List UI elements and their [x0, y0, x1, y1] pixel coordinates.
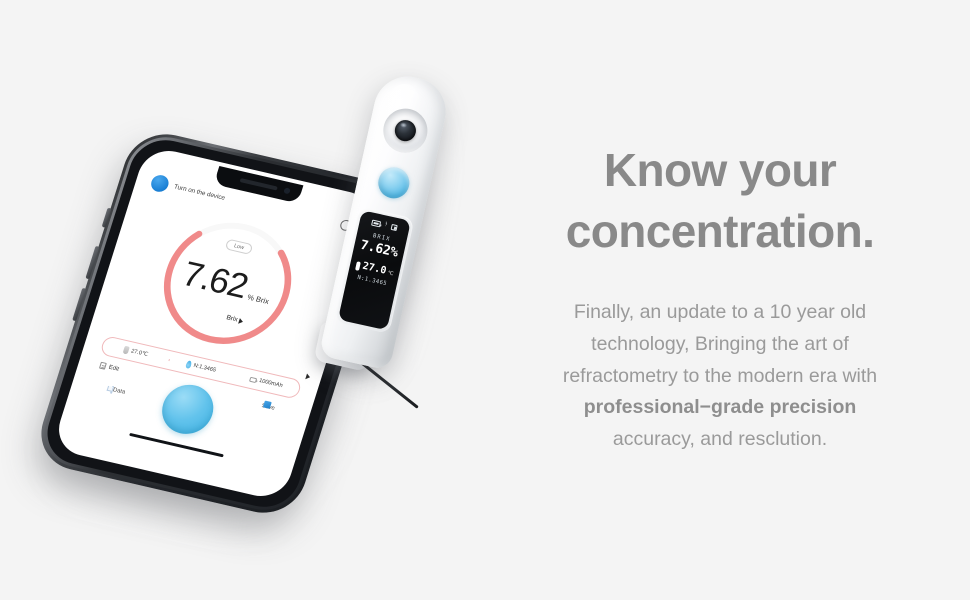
measure-button[interactable]	[156, 380, 220, 439]
earpiece-speaker	[240, 178, 278, 190]
front-camera-icon	[283, 187, 291, 194]
temperature-value: 27.0℃	[130, 348, 149, 358]
oled-temp-value: 27.0	[362, 261, 388, 277]
thermometer-icon	[355, 261, 361, 271]
home-indicator[interactable]	[129, 432, 224, 457]
battery-icon	[371, 220, 381, 227]
device-status: Turn on the device	[149, 173, 227, 206]
bluetooth-icon: ᚬ	[384, 223, 388, 229]
refractive-index-value: N:1.3465	[193, 363, 217, 374]
hero-banner: Turn on the device Low 7.62	[0, 0, 970, 600]
water-drop-icon	[185, 360, 192, 369]
subcopy-line-3: refractometry to the modern era with	[520, 361, 920, 393]
marketing-copy: Know your concentration. Finally, an upd…	[520, 140, 920, 455]
subcopy-line-1: Finally, an update to a 10 year old	[520, 297, 920, 329]
blue-power-button[interactable]	[375, 164, 412, 201]
status-label: Turn on the device	[173, 183, 226, 201]
headline-line-1: Know your	[520, 140, 920, 201]
refractometer-device: ᚬ BRIX 7.62% 27.0 ℃ N:1.3465	[299, 67, 515, 412]
prism-lens-icon	[393, 118, 418, 143]
save-button[interactable]: Save	[248, 400, 289, 415]
subcopy-line-4: professional−grade precision	[520, 392, 920, 424]
oled-status-icons: ᚬ	[364, 218, 404, 233]
battery-capacity-value: 1000mAh	[258, 378, 283, 389]
battery-icon	[249, 376, 257, 382]
subcopy: Finally, an update to a 10 year old tech…	[520, 297, 920, 455]
status-indicator-dot	[149, 173, 171, 193]
subcopy-line-5: accuracy, and resclution.	[520, 424, 920, 456]
data-button[interactable]: Data	[98, 384, 139, 399]
oled-temp-unit: ℃	[387, 270, 394, 279]
thermometer-icon	[123, 346, 130, 355]
subcopy-line-2: technology, Bringing the art of	[520, 329, 920, 361]
page-title: Know your concentration.	[520, 140, 920, 261]
mode-icon	[391, 224, 398, 231]
data-label: Data	[112, 387, 126, 395]
device-oled-display: ᚬ BRIX 7.62% 27.0 ℃ N:1.3465	[338, 210, 411, 330]
headline-line-2: concentration.	[520, 201, 920, 262]
